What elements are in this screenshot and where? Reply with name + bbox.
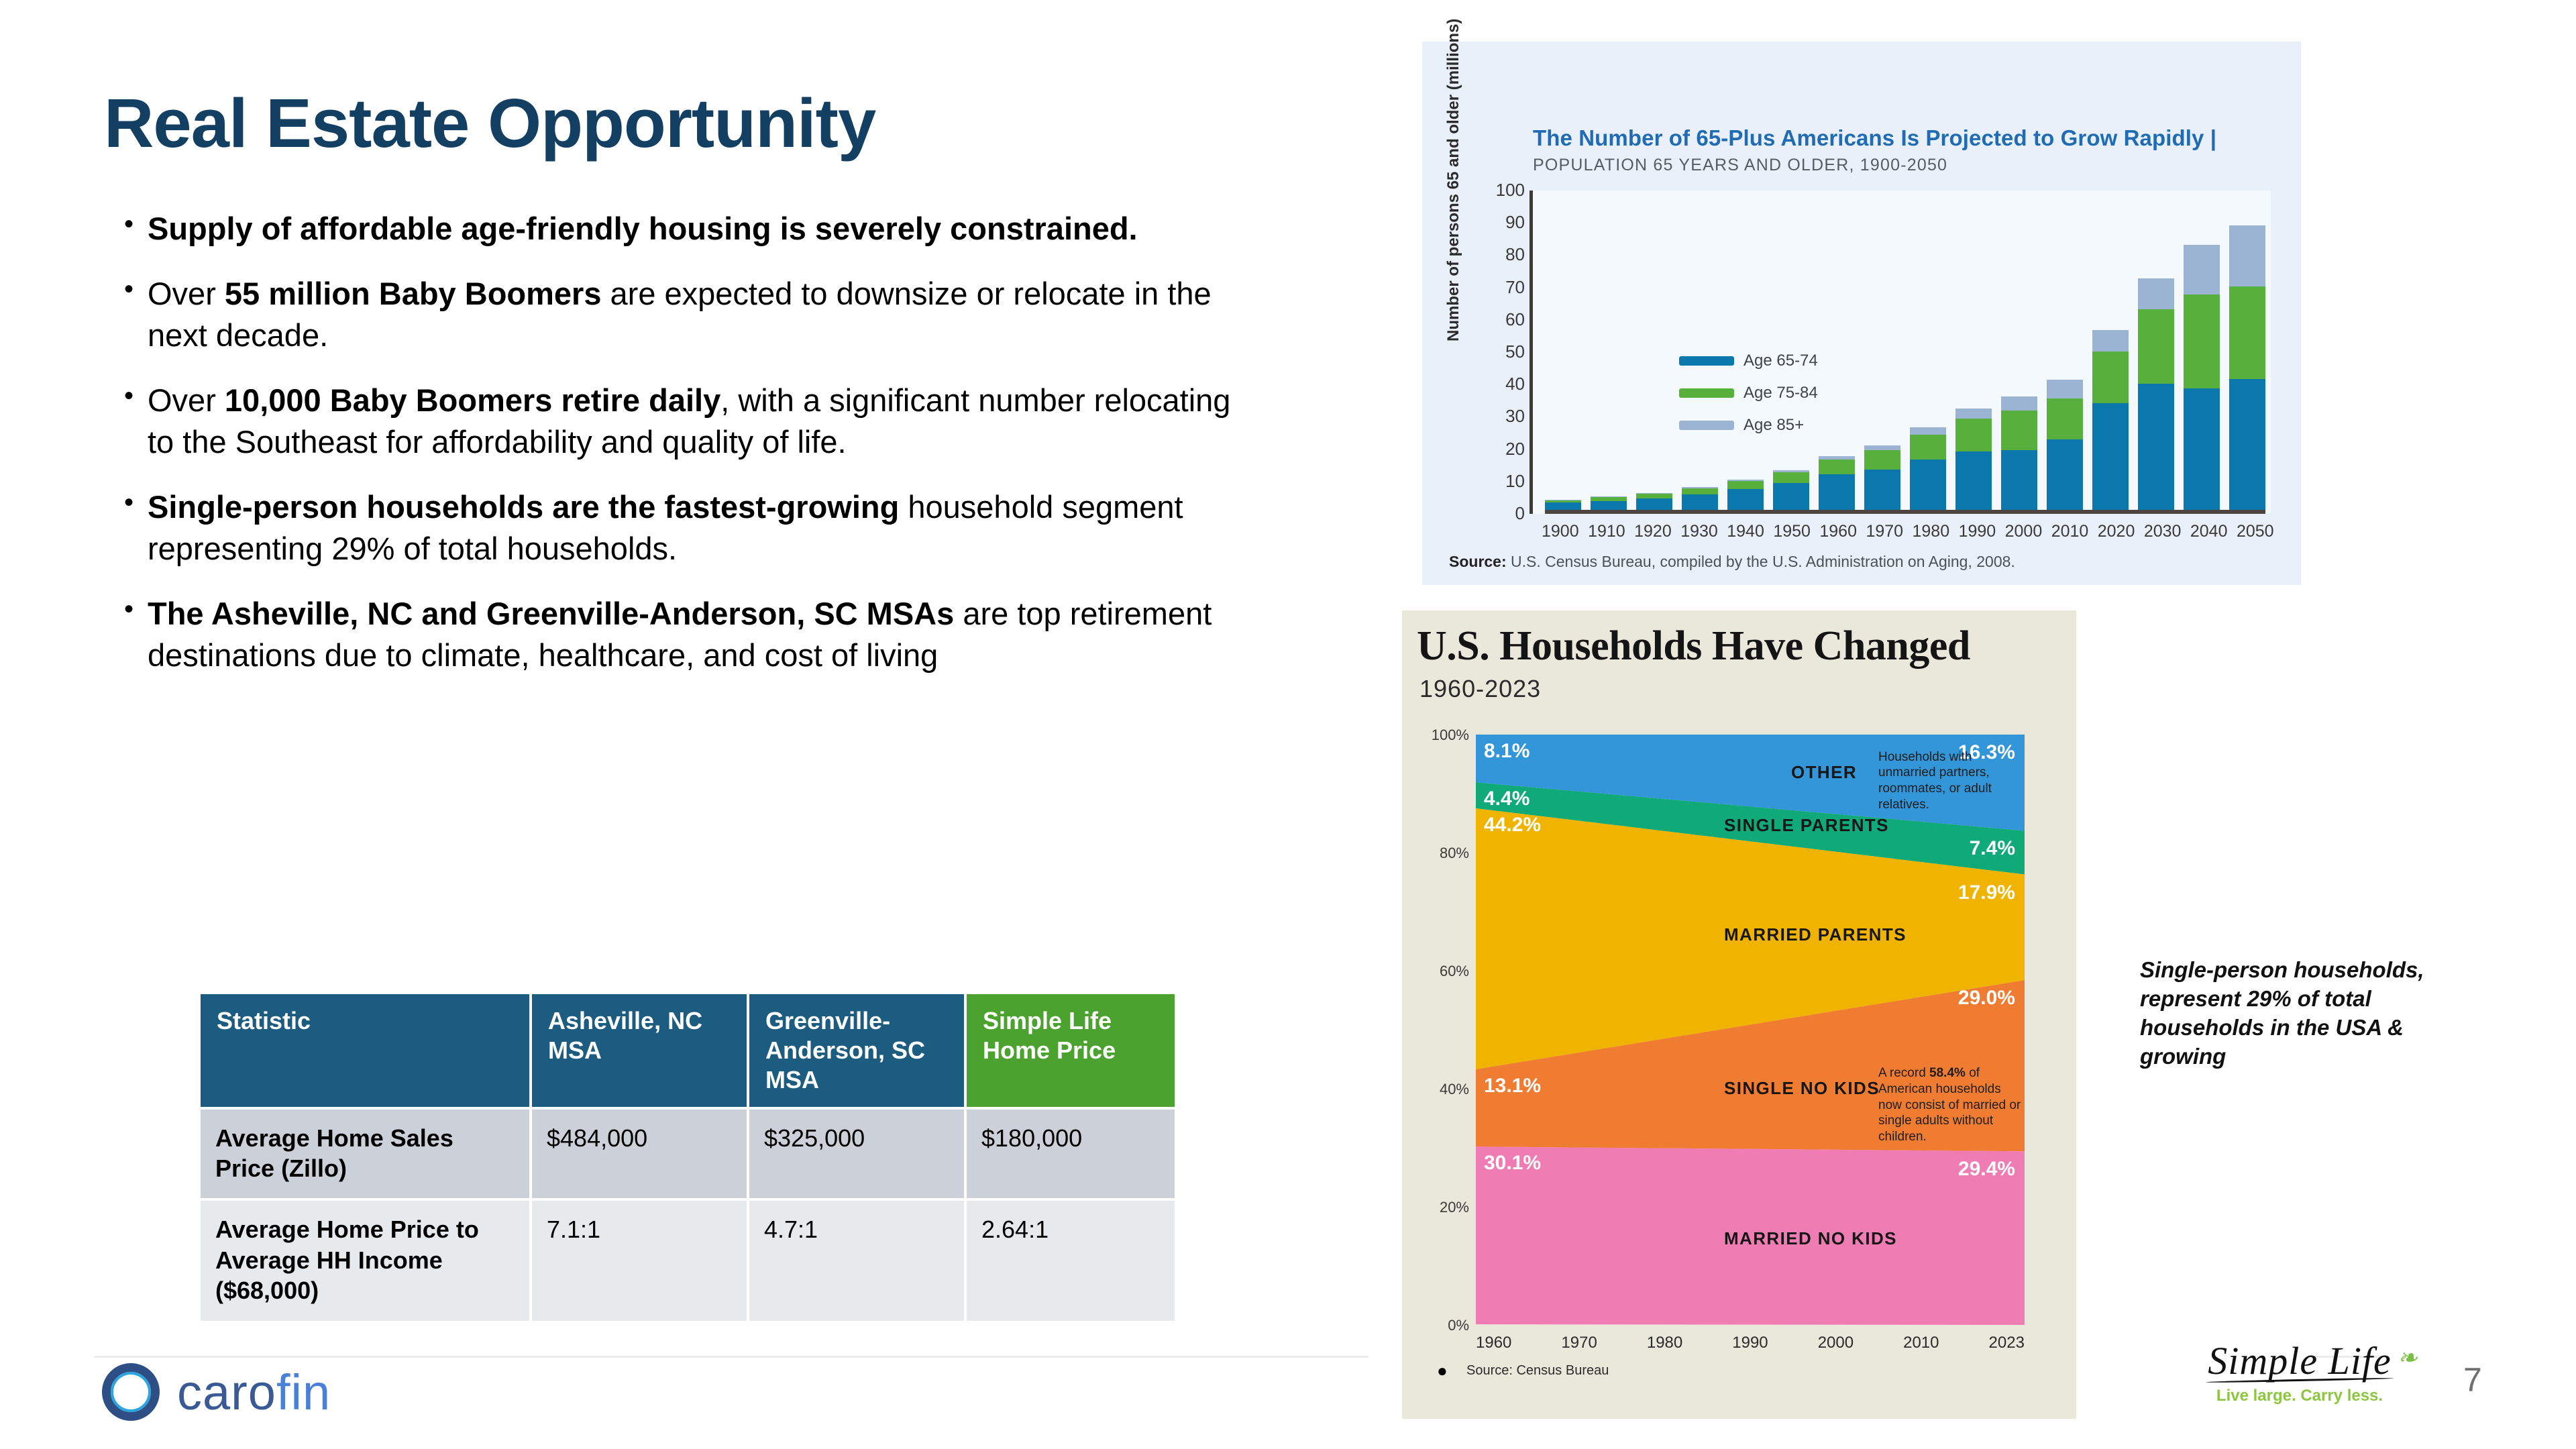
row-value-asheville: 7.1:1 [532,1201,747,1320]
simple-life-wordmark: Simple Life❧ [2208,1338,2392,1383]
chart-bar [1591,191,1627,510]
legend-swatch [1679,421,1734,430]
band-label: OTHER [1791,762,1857,783]
chart-bar-segment [1819,460,1855,474]
carofin-logo: carofin [102,1363,331,1421]
chart-y-tick: 90 [1505,212,1525,233]
chart-bar-segment [1773,483,1809,510]
bullet-text: Over 10,000 Baby Boomers retire daily, w… [148,380,1234,464]
infographic-x-tick: 2010 [1903,1334,1939,1352]
band-end-percent: 17.9% [1958,881,2015,904]
row-label: Average Home Sales Price (Zillo) [201,1110,529,1199]
chart-bar [2184,191,2220,510]
chart-bars [1545,191,2265,514]
infographic-subtitle: 1960-2023 [1419,675,1541,703]
chart-bar-segment [1819,474,1855,510]
infographic-x-tick: 2023 [1989,1334,2025,1352]
carofin-ring-icon [102,1363,160,1421]
infographic-y-tick: 100% [1432,727,1469,744]
carofin-word-a: caro [177,1364,276,1420]
chart-bar [2047,191,2083,510]
chart-x-tick: 2030 [2144,522,2180,541]
legend-swatch [1679,356,1734,366]
chart-y-tick: 10 [1505,471,1525,492]
chart-bar [2001,191,2037,510]
legend-swatch [1679,388,1734,398]
bullet-pre: Over [148,276,225,311]
infographic-x-tick: 1980 [1647,1334,1682,1352]
list-item: • The Asheville, NC and Greenville-Ander… [107,593,1268,677]
chart-y-tick: 70 [1505,277,1525,298]
band-start-percent: 13.1% [1484,1075,1541,1097]
chart-y-tick: 20 [1505,439,1525,460]
page-number: 7 [2463,1360,2482,1399]
chart-source-text: U.S. Census Bureau, compiled by the U.S.… [1511,553,2015,570]
band-end-percent: 29.4% [1958,1158,2015,1181]
chart-y-tick: 60 [1505,309,1525,330]
chart-legend-item: Age 75-84 [1679,384,1818,402]
bullet-text: Over 55 million Baby Boomers are expecte… [148,273,1234,357]
chart-bar-segment [2229,286,2265,378]
chart-x-tick: 1960 [1819,522,1856,541]
chart-bar-segment [1591,501,1627,510]
chart-bar [1773,191,1809,510]
row-value-greenville: $325,000 [749,1110,964,1199]
bullet-dot-icon: • [107,593,148,626]
chart-bar-segment [1955,451,1992,510]
chart-bar-segment [2092,403,2129,510]
chart-bar [2138,191,2174,510]
bullet-dot-icon: • [107,273,148,306]
bullet-text: The Asheville, NC and Greenville-Anderso… [148,593,1234,677]
chart-bar-segment [1545,502,1581,510]
chart-title: The Number of 65-Plus Americans Is Proje… [1533,125,2216,151]
infographic-x-tick: 1970 [1561,1334,1597,1352]
chart-legend-item: Age 85+ [1679,416,1818,435]
table-header-simple-life: Simple Life Home Price [967,994,1175,1107]
chart-y-tick: 0 [1515,503,1525,524]
chart-x-tick: 1930 [1680,522,1717,541]
side-caption: Single-person households, represent 29% … [2140,956,2489,1071]
infographic-y-tick: 60% [1440,963,1469,980]
chart-bar [1819,191,1855,510]
infographic-plot-area: 8.1%16.3%OTHERHouseholds with unmarried … [1476,735,2025,1325]
band-end-percent: 29.0% [1958,987,2015,1010]
chart-bar-segment [1727,481,1764,490]
bullet-lead: 55 million Baby Boomers [225,276,602,311]
chart-y-axis-label: Number of persons 65 and older (millions… [1444,60,1463,341]
chart-bar-segment [1773,472,1809,483]
list-item: • Supply of affordable age-friendly hous… [107,208,1268,250]
row-value-greenville: 4.7:1 [749,1201,964,1320]
chart-x-tick: 1950 [1773,522,1809,541]
population-65-plus-chart: The Number of 65-Plus Americans Is Proje… [1422,42,2301,585]
infographic-title: U.S. Households Have Changed [1417,623,1970,670]
infographic-x-tick: 1990 [1732,1334,1768,1352]
chart-plot-area: Number of persons 65 and older (millions… [1529,191,2271,514]
bullet-dot-icon: • [107,208,148,241]
bullet-list: • Supply of affordable age-friendly hous… [107,208,1268,700]
band-label: SINGLE NO KIDS [1724,1078,1880,1099]
footer-divider [94,1356,1368,1358]
chart-bar-segment [1910,435,1946,460]
chart-bar-segment [1955,409,1992,419]
chart-bar-segment [2001,450,2037,510]
band-start-percent: 8.1% [1484,740,1529,763]
chart-bar [1682,191,1718,510]
chart-bar-segment [1682,488,1718,494]
infographic-x-ticks: 1960197019801990200020102023 [1476,1334,2025,1352]
infographic-y-tick: 40% [1440,1081,1469,1098]
chart-bar-segment [1864,445,1900,450]
infographic-y-tick: 0% [1448,1317,1469,1334]
table-row: Average Home Sales Price (Zillo) $484,00… [201,1110,1175,1199]
chart-bar-segment [2001,411,2037,451]
chart-x-tick: 1940 [1727,522,1763,541]
chart-bar-segment [1727,489,1764,510]
chart-bar [1545,191,1581,510]
chart-bar-segment [2138,309,2174,384]
legend-label: Age 85+ [1743,416,1804,435]
chart-bar-segment [2138,384,2174,510]
chart-bar-segment [1910,460,1946,510]
infographic-y-tick: 20% [1440,1199,1469,1216]
chart-bar-segment [2001,396,2037,410]
carofin-wordmark: carofin [177,1364,331,1421]
row-value-simple-life: $180,000 [967,1110,1175,1199]
table-header-row: Statistic Asheville, NC MSA Greenville-A… [201,994,1175,1107]
simple-life-logo: Simple Life❧ Live large. Carry less. [2192,1338,2407,1405]
slide-left-column: Real Estate Opportunity • Supply of affo… [0,0,1368,1449]
chart-x-tick: 2050 [2237,522,2273,541]
chart-bar [2092,191,2129,510]
list-item: • Single-person households are the faste… [107,486,1268,570]
chart-bar-segment [2092,330,2129,352]
chart-source-label: Source: [1449,553,1507,570]
chart-y-tick: 30 [1505,406,1525,427]
table-header-asheville: Asheville, NC MSA [532,994,747,1107]
chart-bar-segment [1636,494,1672,498]
chart-x-tick: 1910 [1588,522,1624,541]
leaf-icon: ❧ [2398,1344,2418,1372]
list-item: • Over 55 million Baby Boomers are expec… [107,273,1268,357]
chart-bar-segment [1864,450,1900,470]
chart-legend: Age 65-74Age 75-84Age 85+ [1679,352,1818,448]
chart-bar-segment [2047,380,2083,398]
chart-bar [1636,191,1672,510]
simple-life-tagline: Live large. Carry less. [2192,1387,2407,1405]
chart-y-tick: 80 [1505,244,1525,265]
simple-life-name: Simple Life [2208,1339,2392,1383]
table-header-greenville: Greenville-Anderson, SC MSA [749,994,964,1107]
band-label: SINGLE PARENTS [1724,815,1889,836]
chart-y-tick: 50 [1505,341,1525,362]
statistics-table: Statistic Asheville, NC MSA Greenville-A… [198,991,1177,1324]
chart-x-ticks: 1900191019201930194019501960197019801990… [1542,522,2273,541]
list-item: • Over 10,000 Baby Boomers retire daily,… [107,380,1268,464]
bullet-text: Supply of affordable age-friendly housin… [148,208,1138,250]
bullet-dot-icon: • [107,380,148,413]
chart-source: Source: U.S. Census Bureau, compiled by … [1449,553,2015,571]
chart-bar-segment [1910,427,1946,435]
bullet-dot-icon: • [107,486,148,519]
band-note: Households with unmarried partners, room… [1878,749,2023,813]
row-value-simple-life: 2.64:1 [967,1201,1175,1320]
census-icon: ● [1437,1360,1448,1381]
chart-bar [1955,191,1992,510]
legend-label: Age 75-84 [1743,384,1818,402]
chart-bar [1864,191,1900,510]
band-start-percent: 44.2% [1484,814,1541,837]
chart-bar-segment [2047,439,2083,510]
band-note: A record 58.4% of American households no… [1878,1065,2023,1145]
bullet-lead: 10,000 Baby Boomers retire daily [225,382,720,418]
chart-x-tick: 1990 [1959,522,1995,541]
chart-bar [1727,191,1764,510]
row-value-asheville: $484,000 [532,1110,747,1199]
chart-x-tick: 2000 [2005,522,2041,541]
chart-x-tick: 2020 [2098,522,2134,541]
chart-x-tick: 1900 [1542,522,1578,541]
page-title: Real Estate Opportunity [104,84,875,163]
table-row: Average Home Price to Average HH Income … [201,1201,1175,1320]
chart-bar-segment [1636,498,1672,510]
chart-x-tick: 1980 [1913,522,1949,541]
chart-x-tick: 1920 [1634,522,1670,541]
bullet-lead: Supply of affordable age-friendly housin… [148,211,1138,246]
chart-x-tick: 2040 [2190,522,2226,541]
chart-bar-segment [2229,379,2265,510]
chart-bar [1910,191,1946,510]
chart-bar [2229,191,2265,510]
legend-label: Age 65-74 [1743,352,1818,370]
bullet-lead: The Asheville, NC and Greenville-Anderso… [148,596,954,631]
chart-bar-segment [2092,352,2129,403]
bullet-lead: Single-person households are the fastest… [148,489,899,525]
carofin-word-b: fin [276,1364,331,1420]
chart-bar-segment [2184,245,2220,294]
infographic-y-tick: 80% [1440,845,1469,862]
chart-x-tick: 1970 [1866,522,1902,541]
chart-bar-segment [2229,225,2265,287]
chart-y-tick: 100 [1496,180,1525,201]
chart-bar-segment [1682,494,1718,510]
chart-bar-segment [2047,398,2083,440]
band-start-percent: 4.4% [1484,788,1529,810]
bullet-text: Single-person households are the fastest… [148,486,1234,570]
chart-legend-item: Age 65-74 [1679,352,1818,370]
chart-subtitle: POPULATION 65 YEARS AND OLDER, 1900-2050 [1533,156,1947,175]
row-label: Average Home Price to Average HH Income … [201,1201,529,1320]
chart-bar-segment [1955,419,1992,451]
chart-bar-segment [2138,278,2174,309]
infographic-source: Source: Census Bureau [1466,1363,1609,1379]
band-label: MARRIED PARENTS [1724,924,1907,945]
chart-x-tick: 2010 [2051,522,2088,541]
bullet-pre: Over [148,382,225,418]
chart-bar-segment [1864,470,1900,510]
chart-y-tick: 40 [1505,374,1525,394]
chart-bar-segment [2184,294,2220,388]
us-households-infographic: U.S. Households Have Changed 1960-2023 8… [1402,610,2076,1419]
infographic-x-tick: 2000 [1818,1334,1854,1352]
band-start-percent: 30.1% [1484,1152,1541,1175]
chart-bar-segment [2184,388,2220,510]
infographic-x-tick: 1960 [1476,1334,1511,1352]
band-end-percent: 7.4% [1970,837,2015,860]
table-header-statistic: Statistic [201,994,529,1107]
band-label: MARRIED NO KIDS [1724,1228,1897,1249]
